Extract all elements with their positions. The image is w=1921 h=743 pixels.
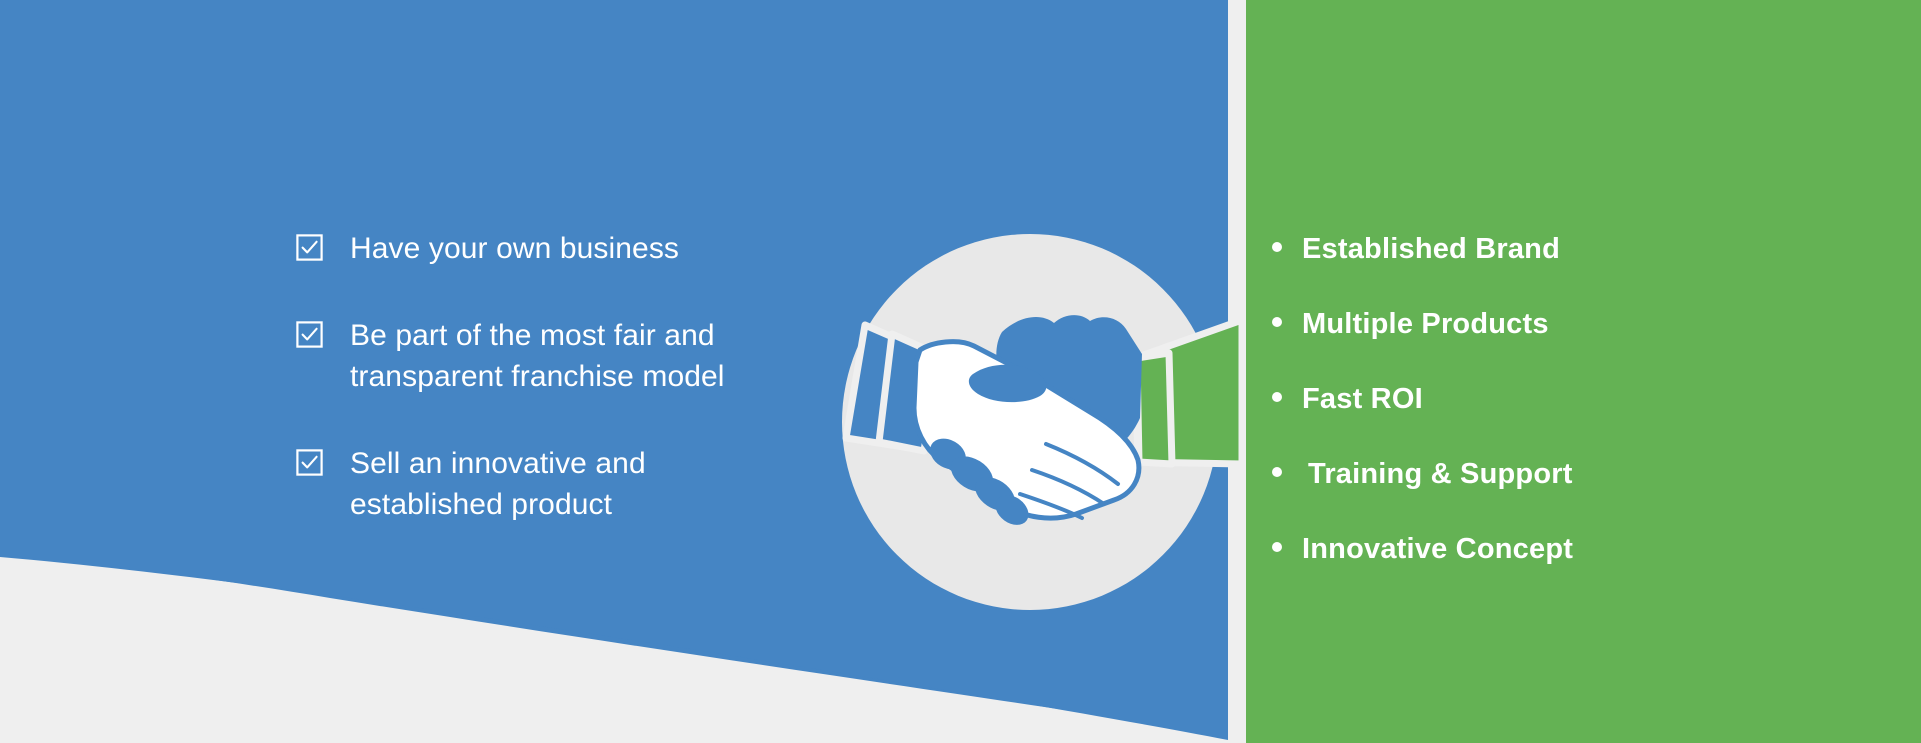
checklist: Have your own business Be part of the mo… [296,228,816,525]
list-item: Sell an innovative and established produ… [296,443,816,525]
list-item-label: Innovative Concept [1302,532,1573,566]
list-item-label: Multiple Products [1302,307,1549,341]
list-item-label: Sell an innovative and established produ… [350,443,646,525]
list-item: Have your own business [296,228,816,269]
list-item-label: Be part of the most fair and transparent… [350,315,725,397]
list-item: Innovative Concept [1272,532,1832,566]
benefits-list: Established Brand Multiple Products Fast… [1272,232,1832,566]
bullet-dot-icon [1272,317,1282,327]
list-item-label: Training & Support [1302,457,1573,491]
list-item: Fast ROI [1272,382,1832,416]
list-item: Training & Support [1272,457,1832,491]
bullet-dot-icon [1272,467,1282,477]
bullet-dot-icon [1272,392,1282,402]
list-item: Multiple Products [1272,307,1832,341]
handshake-icon [832,222,1242,632]
bullet-dot-icon [1272,242,1282,252]
list-item-label: Fast ROI [1302,382,1423,416]
list-item-label: Established Brand [1302,232,1560,266]
list-item-label: Have your own business [350,228,679,269]
checkbox-checked-icon [296,321,323,348]
franchise-benefits-banner: Have your own business Be part of the mo… [0,0,1921,743]
bullet-dot-icon [1272,542,1282,552]
checkbox-checked-icon [296,234,323,261]
checkbox-checked-icon [296,449,323,476]
list-item: Be part of the most fair and transparent… [296,315,816,397]
list-item: Established Brand [1272,232,1832,266]
